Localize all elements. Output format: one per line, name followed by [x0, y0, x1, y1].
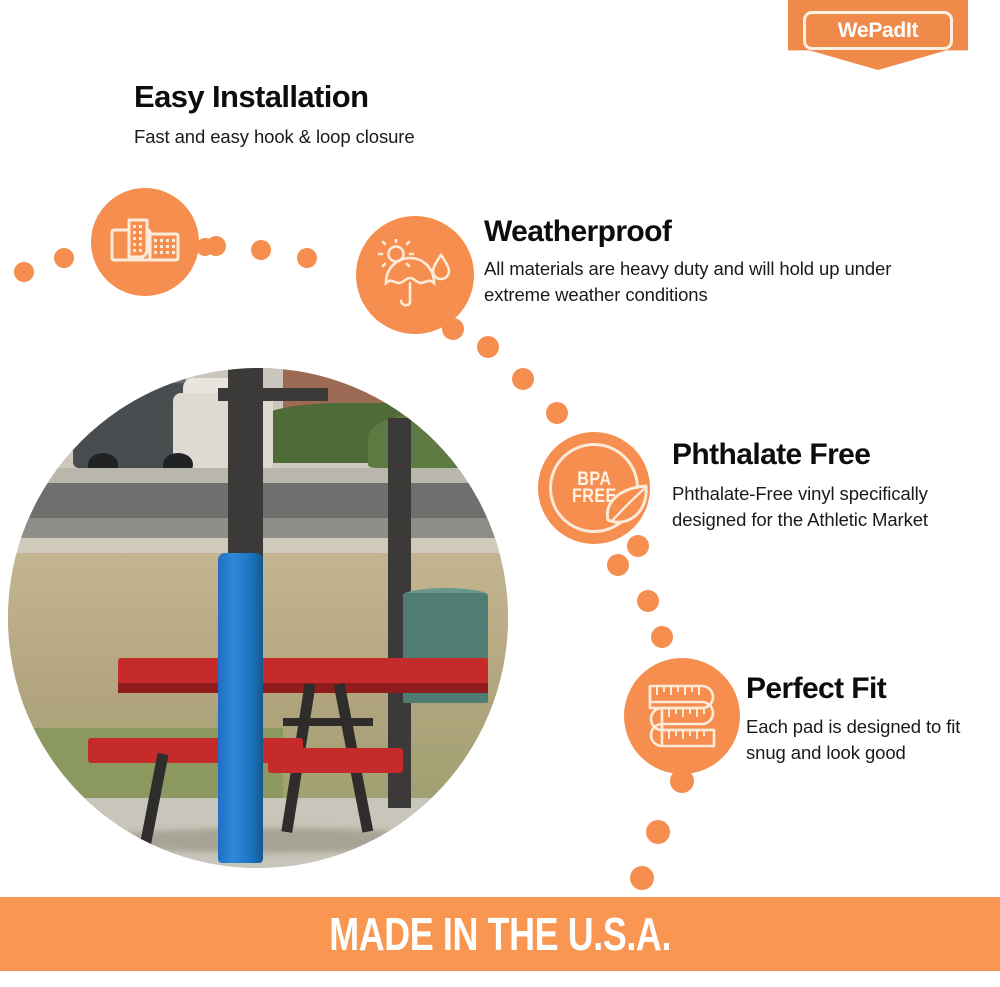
feature-title-weatherproof: Weatherproof	[484, 215, 671, 248]
connector-dot	[646, 820, 670, 844]
feature-title-easy-installation: Easy Installation	[134, 80, 368, 114]
connector-dot	[512, 368, 534, 390]
product-photo	[8, 368, 508, 868]
connector-dot	[637, 590, 659, 612]
feature-description-phthalate-free: Phthalate-Free vinyl specifically design…	[672, 481, 942, 534]
connector-dot	[651, 626, 673, 648]
connector-dot	[206, 236, 226, 256]
icon-bump-2	[442, 318, 464, 340]
connector-dot	[14, 262, 34, 282]
feature-description-weatherproof: All materials are heavy duty and will ho…	[484, 256, 914, 309]
feature-title-perfect-fit: Perfect Fit	[746, 672, 886, 705]
connector-dot	[297, 248, 317, 268]
logo-text-we: We	[838, 19, 869, 42]
connector-dot	[251, 240, 271, 260]
bpa-free-leaf-icon: BPA FREE	[538, 432, 650, 544]
logo-outline-box: WePadIt	[803, 11, 953, 50]
sun-umbrella-raindrop-icon	[356, 216, 474, 334]
made-in-usa-text: MADE IN THE U.S.A.	[329, 907, 671, 961]
icon-bump-3	[627, 535, 649, 557]
logo-text-it: It	[906, 19, 918, 42]
icon-bump-4	[670, 769, 694, 793]
logo-text: WePadIt	[838, 20, 918, 41]
connector-dot	[607, 554, 629, 576]
feature-description-easy-installation: Fast and easy hook & loop closure	[134, 124, 594, 150]
product-feature-infographic: WePadIt Easy Installation Fast and easy …	[0, 0, 1000, 987]
measuring-tape-icon	[624, 658, 740, 774]
feature-description-perfect-fit: Each pad is designed to fit snug and loo…	[746, 714, 986, 767]
blue-pole-pad	[218, 553, 263, 863]
connector-dot	[546, 402, 568, 424]
made-in-usa-banner: MADE IN THE U.S.A.	[0, 897, 1000, 971]
connector-dot	[630, 866, 654, 890]
logo-text-pad: Pad	[868, 19, 906, 42]
hook-and-loop-icon	[91, 188, 199, 296]
feature-title-phthalate-free: Phthalate Free	[672, 438, 870, 471]
brand-logo: WePadIt	[788, 0, 968, 70]
connector-dot	[477, 336, 499, 358]
connector-dot	[54, 248, 74, 268]
